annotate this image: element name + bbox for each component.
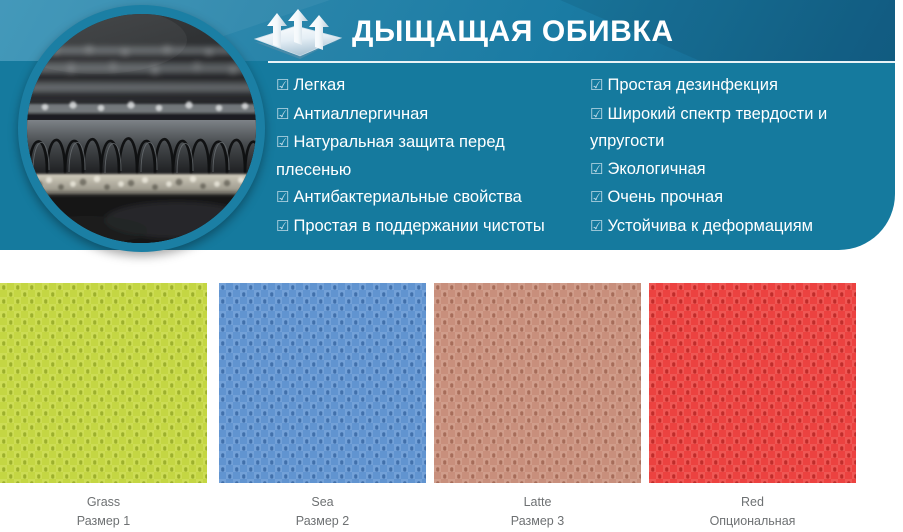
- feature-item: ☑Простая в поддержании чистоты: [276, 213, 576, 241]
- feature-item: ☑Широкий спектр твердости и упругости: [590, 101, 890, 155]
- swatch-size: Опциональная: [649, 512, 856, 531]
- swatch-tile[interactable]: [219, 283, 426, 483]
- swatch-size: Размер 3: [434, 512, 641, 531]
- swatch-tile[interactable]: [649, 283, 856, 483]
- feature-item: ☑Антиаллергичная: [276, 101, 576, 129]
- swatch-caption: Red Опциональная: [649, 483, 856, 531]
- swatch-latte[interactable]: Latte Размер 3: [434, 283, 641, 531]
- swatch-name: Grass: [87, 495, 120, 509]
- swatch-sea[interactable]: Sea Размер 2: [219, 283, 426, 531]
- feature-item: ☑Очень прочная: [590, 184, 890, 212]
- swatch-tile[interactable]: [434, 283, 641, 483]
- checkbox-checked-icon: ☑: [276, 77, 289, 94]
- feature-list-left: ☑Легкая ☑Антиаллергичная ☑Натуральная за…: [276, 72, 576, 241]
- feature-label: Очень прочная: [607, 188, 723, 206]
- fabric-macro-photo: [27, 14, 256, 243]
- feature-label: Антиаллергичная: [293, 105, 428, 123]
- checkbox-checked-icon: ☑: [590, 218, 603, 235]
- checkbox-checked-icon: ☑: [276, 134, 289, 151]
- feature-item: ☑Устойчива к деформациям: [590, 213, 890, 241]
- feature-label: Простая в поддержании чистоты: [293, 217, 544, 235]
- feature-item: ☑Натуральная защита перед плесенью: [276, 129, 576, 183]
- mesh-texture: [649, 283, 856, 483]
- checkbox-checked-icon: ☑: [590, 189, 603, 206]
- breathable-upholstery-panel: ДЫЩАЩАЯ ОБИВКА: [0, 0, 895, 250]
- mesh-texture: [434, 283, 641, 483]
- checkbox-checked-icon: ☑: [590, 77, 603, 94]
- swatch-name: Latte: [524, 495, 552, 509]
- fabric-photo-bubble: [18, 5, 265, 252]
- checkbox-checked-icon: ☑: [276, 218, 289, 235]
- page-title: ДЫЩАЩАЯ ОБИВКА: [352, 10, 674, 54]
- swatch-caption: Grass Размер 1: [0, 483, 207, 531]
- feature-label: Легкая: [293, 76, 345, 94]
- feature-list-right: ☑Простая дезинфекция ☑Широкий спектр тве…: [590, 72, 890, 241]
- swatch-grass[interactable]: Grass Размер 1: [0, 283, 207, 531]
- swatch-caption: Latte Размер 3: [434, 483, 641, 531]
- mesh-texture: [219, 283, 426, 483]
- feature-label: Простая дезинфекция: [607, 76, 777, 94]
- swatch-tile[interactable]: [0, 283, 207, 483]
- feature-label: Антибактериальные свойства: [293, 188, 521, 206]
- mesh-texture: [0, 283, 207, 483]
- feature-item: ☑Простая дезинфекция: [590, 72, 890, 100]
- feature-label: Экологичная: [607, 160, 705, 178]
- feature-item: ☑Легкая: [276, 72, 576, 100]
- swatch-name: Sea: [311, 495, 333, 509]
- feature-label: Натуральная защита перед плесенью: [276, 133, 505, 179]
- feature-item: ☑Антибактериальные свойства: [276, 184, 576, 212]
- fabric-swatch-row: Grass Размер 1 Sea: [0, 283, 903, 532]
- feature-label: Широкий спектр твердости и упругости: [590, 105, 827, 151]
- checkbox-checked-icon: ☑: [276, 106, 289, 123]
- feature-label: Устойчива к деформациям: [607, 217, 813, 235]
- swatch-red[interactable]: Red Опциональная: [649, 283, 856, 531]
- swatch-size: Размер 1: [0, 512, 207, 531]
- swatch-name: Red: [741, 495, 764, 509]
- checkbox-checked-icon: ☑: [590, 106, 603, 123]
- swatch-size: Размер 2: [219, 512, 426, 531]
- breathability-arrows-icon: [252, 9, 344, 61]
- checkbox-checked-icon: ☑: [276, 189, 289, 206]
- checkbox-checked-icon: ☑: [590, 161, 603, 178]
- header-divider: [268, 61, 895, 63]
- fabric-photo-clip: [27, 14, 256, 243]
- swatch-caption: Sea Размер 2: [219, 483, 426, 531]
- feature-item: ☑Экологичная: [590, 156, 890, 184]
